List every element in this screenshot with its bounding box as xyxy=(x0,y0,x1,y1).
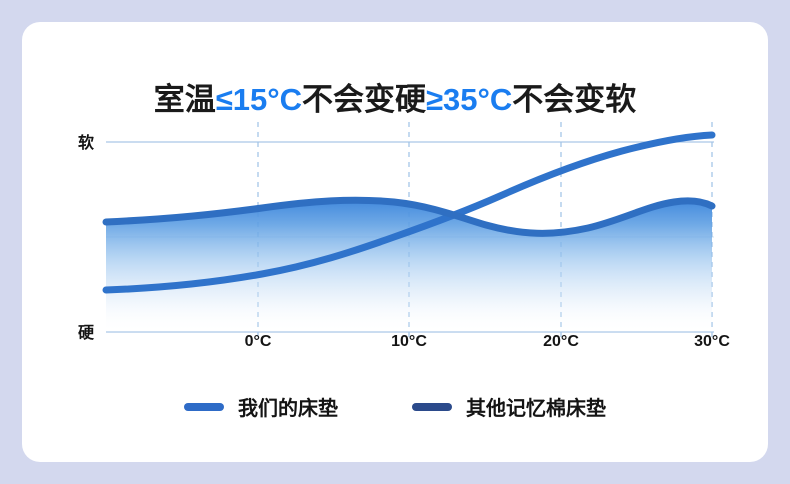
chart-card: 室温≤15°C不会变硬≥35°C不会变软 xyxy=(22,22,768,462)
legend-label-other-mattress: 其他记忆棉床垫 xyxy=(466,392,606,421)
page-root: 室温≤15°C不会变硬≥35°C不会变软 xyxy=(0,0,790,484)
plot-area: 软 硬 0°C 10°C 20°C 30°C 我们的床垫 其他记忆棉床垫 xyxy=(22,22,768,462)
chart-legend: 我们的床垫 其他记忆棉床垫 xyxy=(22,392,768,421)
legend-label-our-mattress: 我们的床垫 xyxy=(238,392,338,421)
legend-item-other-mattress[interactable]: 其他记忆棉床垫 xyxy=(412,392,606,421)
y-axis-bottom-label: 硬 xyxy=(78,319,94,343)
legend-line-swatch-icon xyxy=(184,403,224,411)
x-tick-20c: 20°C xyxy=(543,333,579,351)
x-tick-30c: 30°C xyxy=(694,333,730,351)
legend-line-swatch-icon xyxy=(412,403,452,411)
x-tick-0c: 0°C xyxy=(245,333,272,351)
y-axis-top-label: 软 xyxy=(78,129,94,153)
x-tick-10c: 10°C xyxy=(391,333,427,351)
legend-item-our-mattress[interactable]: 我们的床垫 xyxy=(184,392,338,421)
